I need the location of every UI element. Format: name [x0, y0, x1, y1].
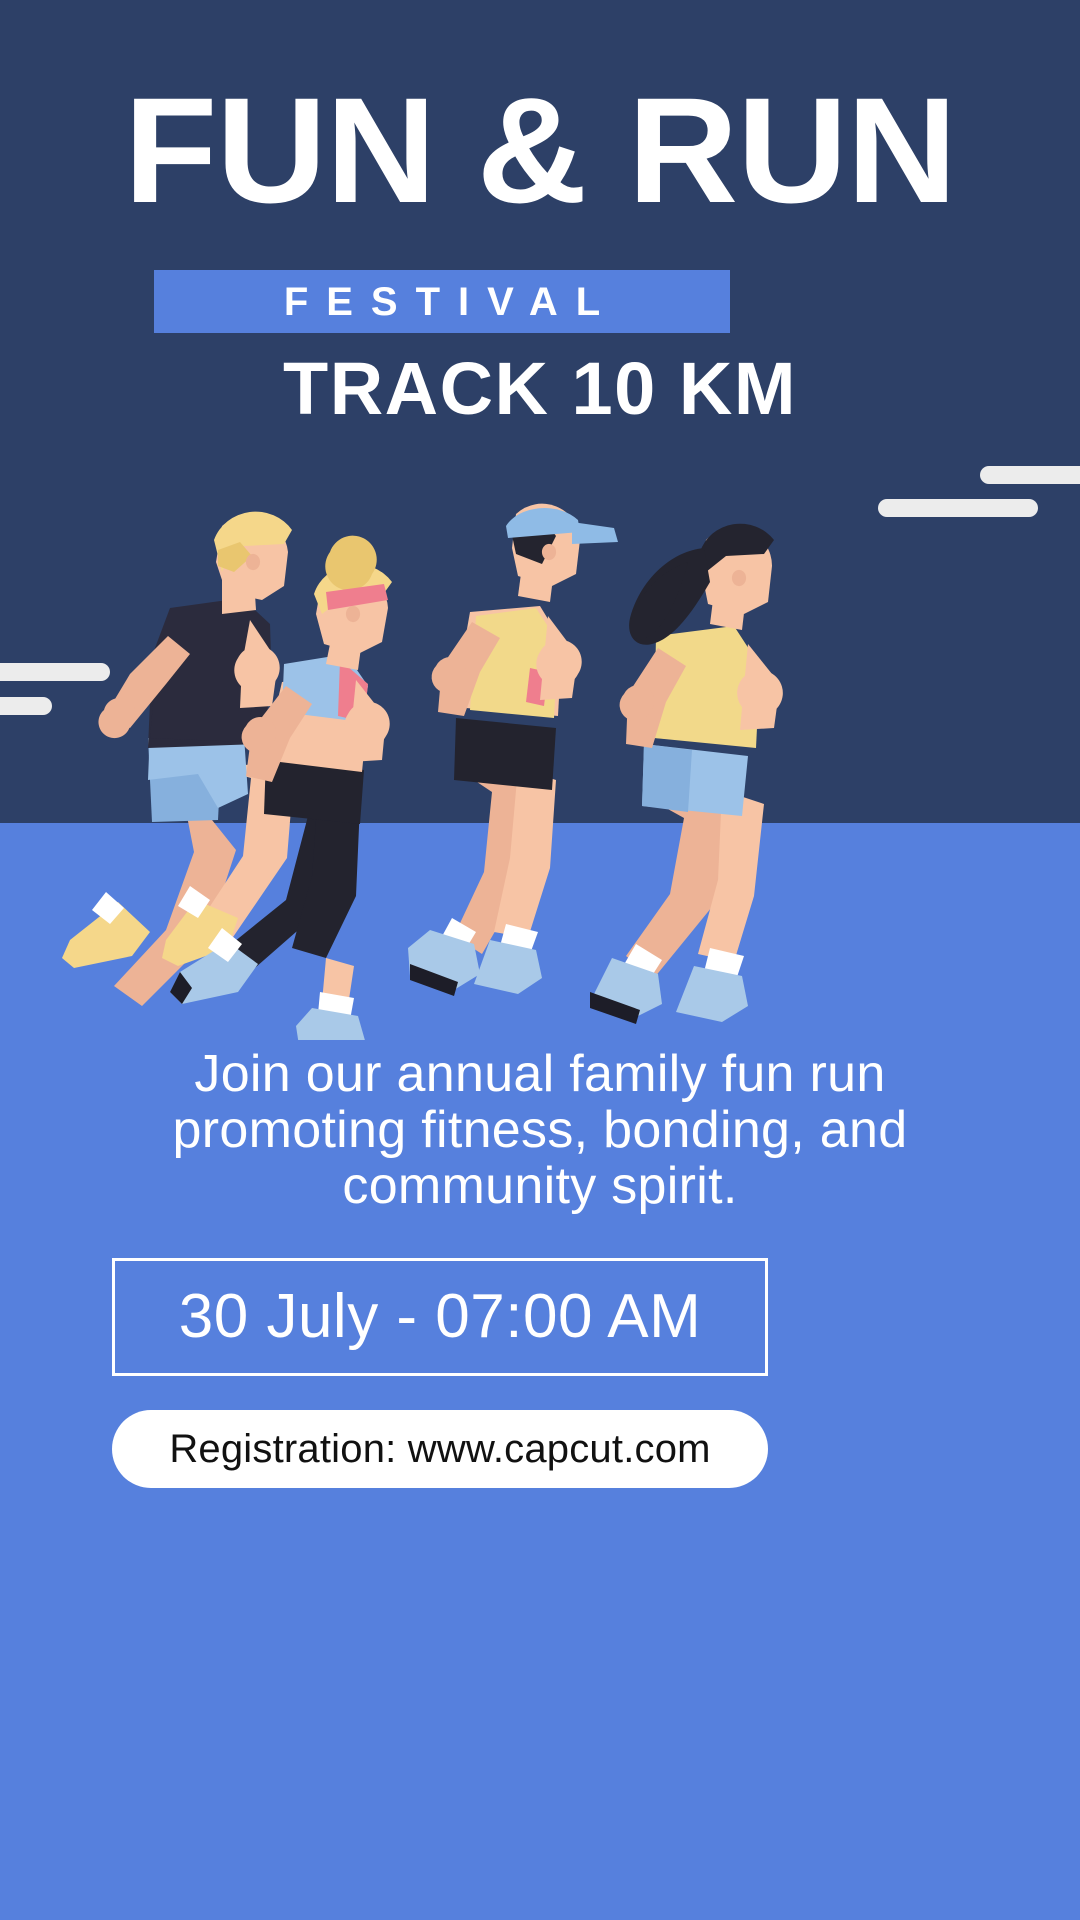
- date-time-box: 30 July - 07:00 AM: [112, 1258, 768, 1376]
- four-runners-illustration: .skin { fill: #f7c4a5; } .skin2 { fill: …: [0, 500, 1080, 1040]
- page-title: FUN & RUN: [0, 78, 1080, 224]
- description-text: Join our annual family fun run promoting…: [90, 1046, 990, 1214]
- headline-block: FUN & RUN: [0, 0, 1080, 224]
- speed-line-right-upper: [980, 466, 1080, 484]
- poster-canvas: FUN & RUN FESTIVAL TRACK 10 KM .skin { f…: [0, 0, 1080, 1920]
- runner-3: [408, 504, 618, 996]
- page-subtitle: TRACK 10 KM: [0, 352, 1080, 426]
- festival-badge-label: FESTIVAL: [266, 282, 618, 322]
- festival-badge: FESTIVAL: [154, 270, 730, 333]
- registration-label: Registration: www.capcut.com: [169, 1429, 710, 1469]
- registration-button[interactable]: Registration: www.capcut.com: [112, 1410, 768, 1488]
- date-time-label: 30 July - 07:00 AM: [179, 1286, 702, 1348]
- runner-4: [590, 524, 783, 1024]
